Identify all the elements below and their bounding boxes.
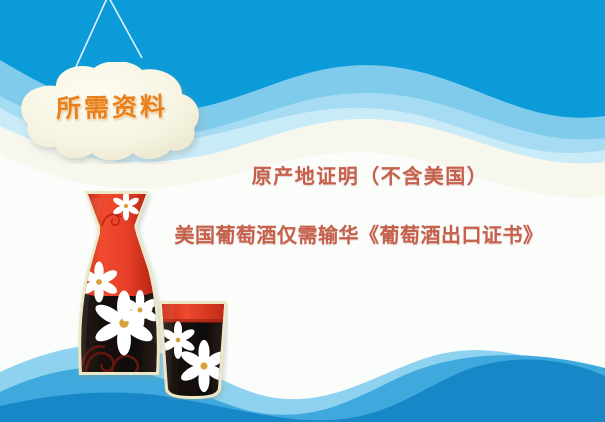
required-materials-badge[interactable]: 所需资料 <box>12 62 212 164</box>
sake-cup <box>157 301 228 399</box>
slide-canvas: 所需资料 原产地证明（不含美国） 美国葡萄酒仅需输华《葡萄酒出口证书》 <box>0 0 605 422</box>
sake-set-graphic <box>52 188 228 400</box>
sake-bottle <box>78 191 160 375</box>
hanger-string-right <box>108 0 142 58</box>
wave-deep-lobe <box>0 404 210 422</box>
content-line-1: 原产地证明（不含美国） <box>150 160 590 189</box>
badge-label: 所需资料 <box>12 86 213 126</box>
sake-illustration <box>52 188 228 400</box>
